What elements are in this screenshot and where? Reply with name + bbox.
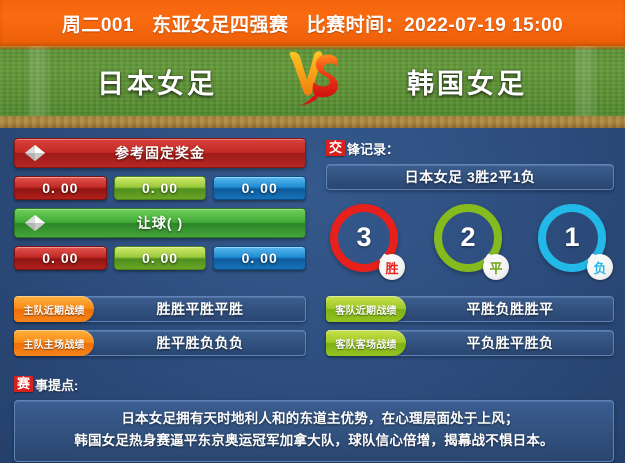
spacer-2 [14, 200, 306, 208]
away-team-name: 韩国女足 [352, 62, 582, 101]
tips-section-label: 赛 事提点: [14, 374, 614, 394]
match-tips-section: 赛 事提点: 日本女足拥有天时地利人和的东道主优势，在心理层面处于上风； 韩国女… [14, 374, 614, 462]
away-form-rows: 客队近期战绩 平胜负胜胜平 客队客场战绩 平负胜平胜负 [326, 296, 614, 364]
home-venue-form-value: 胜平胜负负负 [94, 330, 306, 356]
win-badge-text: 胜 [385, 258, 398, 277]
head-to-head-panel: 交 锋记录： 日本女足 3胜2平1负 3 胜 2 平 1 负 [326, 138, 614, 276]
h2h-label-text: 锋记录： [347, 139, 399, 158]
handicap-odds-away[interactable]: 0. 00 [213, 246, 306, 270]
vs-icon [281, 48, 347, 110]
handicap-odds-draw[interactable]: 0. 00 [114, 246, 207, 270]
home-form-rows: 主队近期战绩 胜胜平胜平胜 主队主场战绩 胜平胜负负负 [14, 296, 306, 364]
h2h-circle-win: 3 胜 [330, 204, 402, 276]
h2h-circles: 3 胜 2 平 1 负 [326, 204, 614, 276]
h2h-circle-loss: 1 负 [538, 204, 610, 276]
loss-badge: 负 [587, 254, 613, 280]
home-recent-form-tag: 主队近期战绩 [14, 296, 94, 322]
spacer-1 [14, 168, 306, 176]
h2h-circle-draw: 2 平 [434, 204, 506, 276]
jackpot-odds-away[interactable]: 0. 00 [213, 176, 306, 200]
loss-count: 1 [564, 222, 579, 253]
match-header-text: 周二001 东亚女足四强赛 比赛时间： 2022-07-19 15:00 [62, 10, 563, 37]
home-venue-form-tag: 主队主场战绩 [14, 330, 94, 356]
pitch-dirt-strip [0, 116, 625, 128]
away-recent-form-value: 平胜负胜胜平 [406, 296, 614, 322]
away-venue-form-value: 平负胜平胜负 [406, 330, 614, 356]
away-venue-form-row: 客队客场战绩 平负胜平胜负 [326, 330, 614, 356]
home-recent-form-row: 主队近期战绩 胜胜平胜平胜 [14, 296, 306, 322]
fixed-jackpot-title: 参考固定奖金 [115, 143, 205, 163]
loss-badge-text: 负 [593, 258, 606, 277]
diamond-gem-icon [23, 142, 47, 166]
away-recent-form-row: 客队近期战绩 平胜负胜胜平 [326, 296, 614, 322]
handicap-title: 让球( ) [137, 213, 183, 233]
draw-count: 2 [460, 222, 475, 253]
win-count: 3 [356, 222, 371, 253]
h2h-summary-box: 日本女足 3胜2平1负 [326, 164, 614, 190]
spacer-3 [14, 238, 306, 246]
handicap-title-bar[interactable]: 让球( ) [14, 208, 306, 238]
odds-panel: 参考固定奖金 0. 00 0. 00 0. 00 让球( ) 0. 00 0. … [14, 138, 306, 270]
tips-line-1: 日本女足拥有天时地利人和的东道主优势，在心理层面处于上风； [25, 408, 603, 430]
home-team-name: 日本女足 [42, 62, 272, 101]
fixed-jackpot-title-bar[interactable]: 参考固定奖金 [14, 138, 306, 168]
h2h-section-label: 交 锋记录： [326, 138, 614, 158]
home-venue-form-row: 主队主场战绩 胜平胜负负负 [14, 330, 306, 356]
draw-badge: 平 [483, 254, 509, 280]
match-time-label: 比赛时间： [307, 10, 405, 37]
match-number: 周二001 [62, 10, 134, 37]
tips-label-text: 事提点: [35, 375, 78, 394]
tips-line-2: 韩国女足热身赛逼平东京奥运冠军加拿大队，球队信心倍增，揭幕战不惧日本。 [25, 430, 603, 452]
win-badge: 胜 [379, 254, 405, 280]
away-venue-form-tag: 客队客场战绩 [326, 330, 406, 356]
handicap-odds-home[interactable]: 0. 00 [14, 246, 107, 270]
handicap-odds-row: 0. 00 0. 00 0. 00 [14, 246, 306, 270]
fixed-jackpot-odds-row: 0. 00 0. 00 0. 00 [14, 176, 306, 200]
h2h-badge: 交 [326, 140, 345, 156]
away-recent-form-tag: 客队近期战绩 [326, 296, 406, 322]
jackpot-odds-home[interactable]: 0. 00 [14, 176, 107, 200]
competition-name: 东亚女足四强赛 [152, 10, 289, 37]
home-recent-form-value: 胜胜平胜平胜 [94, 296, 306, 322]
match-time-value: 2022-07-19 15:00 [404, 15, 563, 37]
jackpot-odds-draw[interactable]: 0. 00 [114, 176, 207, 200]
tips-box: 日本女足拥有天时地利人和的东道主优势，在心理层面处于上风； 韩国女足热身赛逼平东… [14, 400, 614, 462]
diamond-gem-icon [23, 212, 47, 236]
draw-badge-text: 平 [489, 258, 502, 277]
match-header-bar: 周二001 东亚女足四强赛 比赛时间： 2022-07-19 15:00 [0, 0, 625, 46]
tips-badge: 赛 [14, 376, 33, 392]
